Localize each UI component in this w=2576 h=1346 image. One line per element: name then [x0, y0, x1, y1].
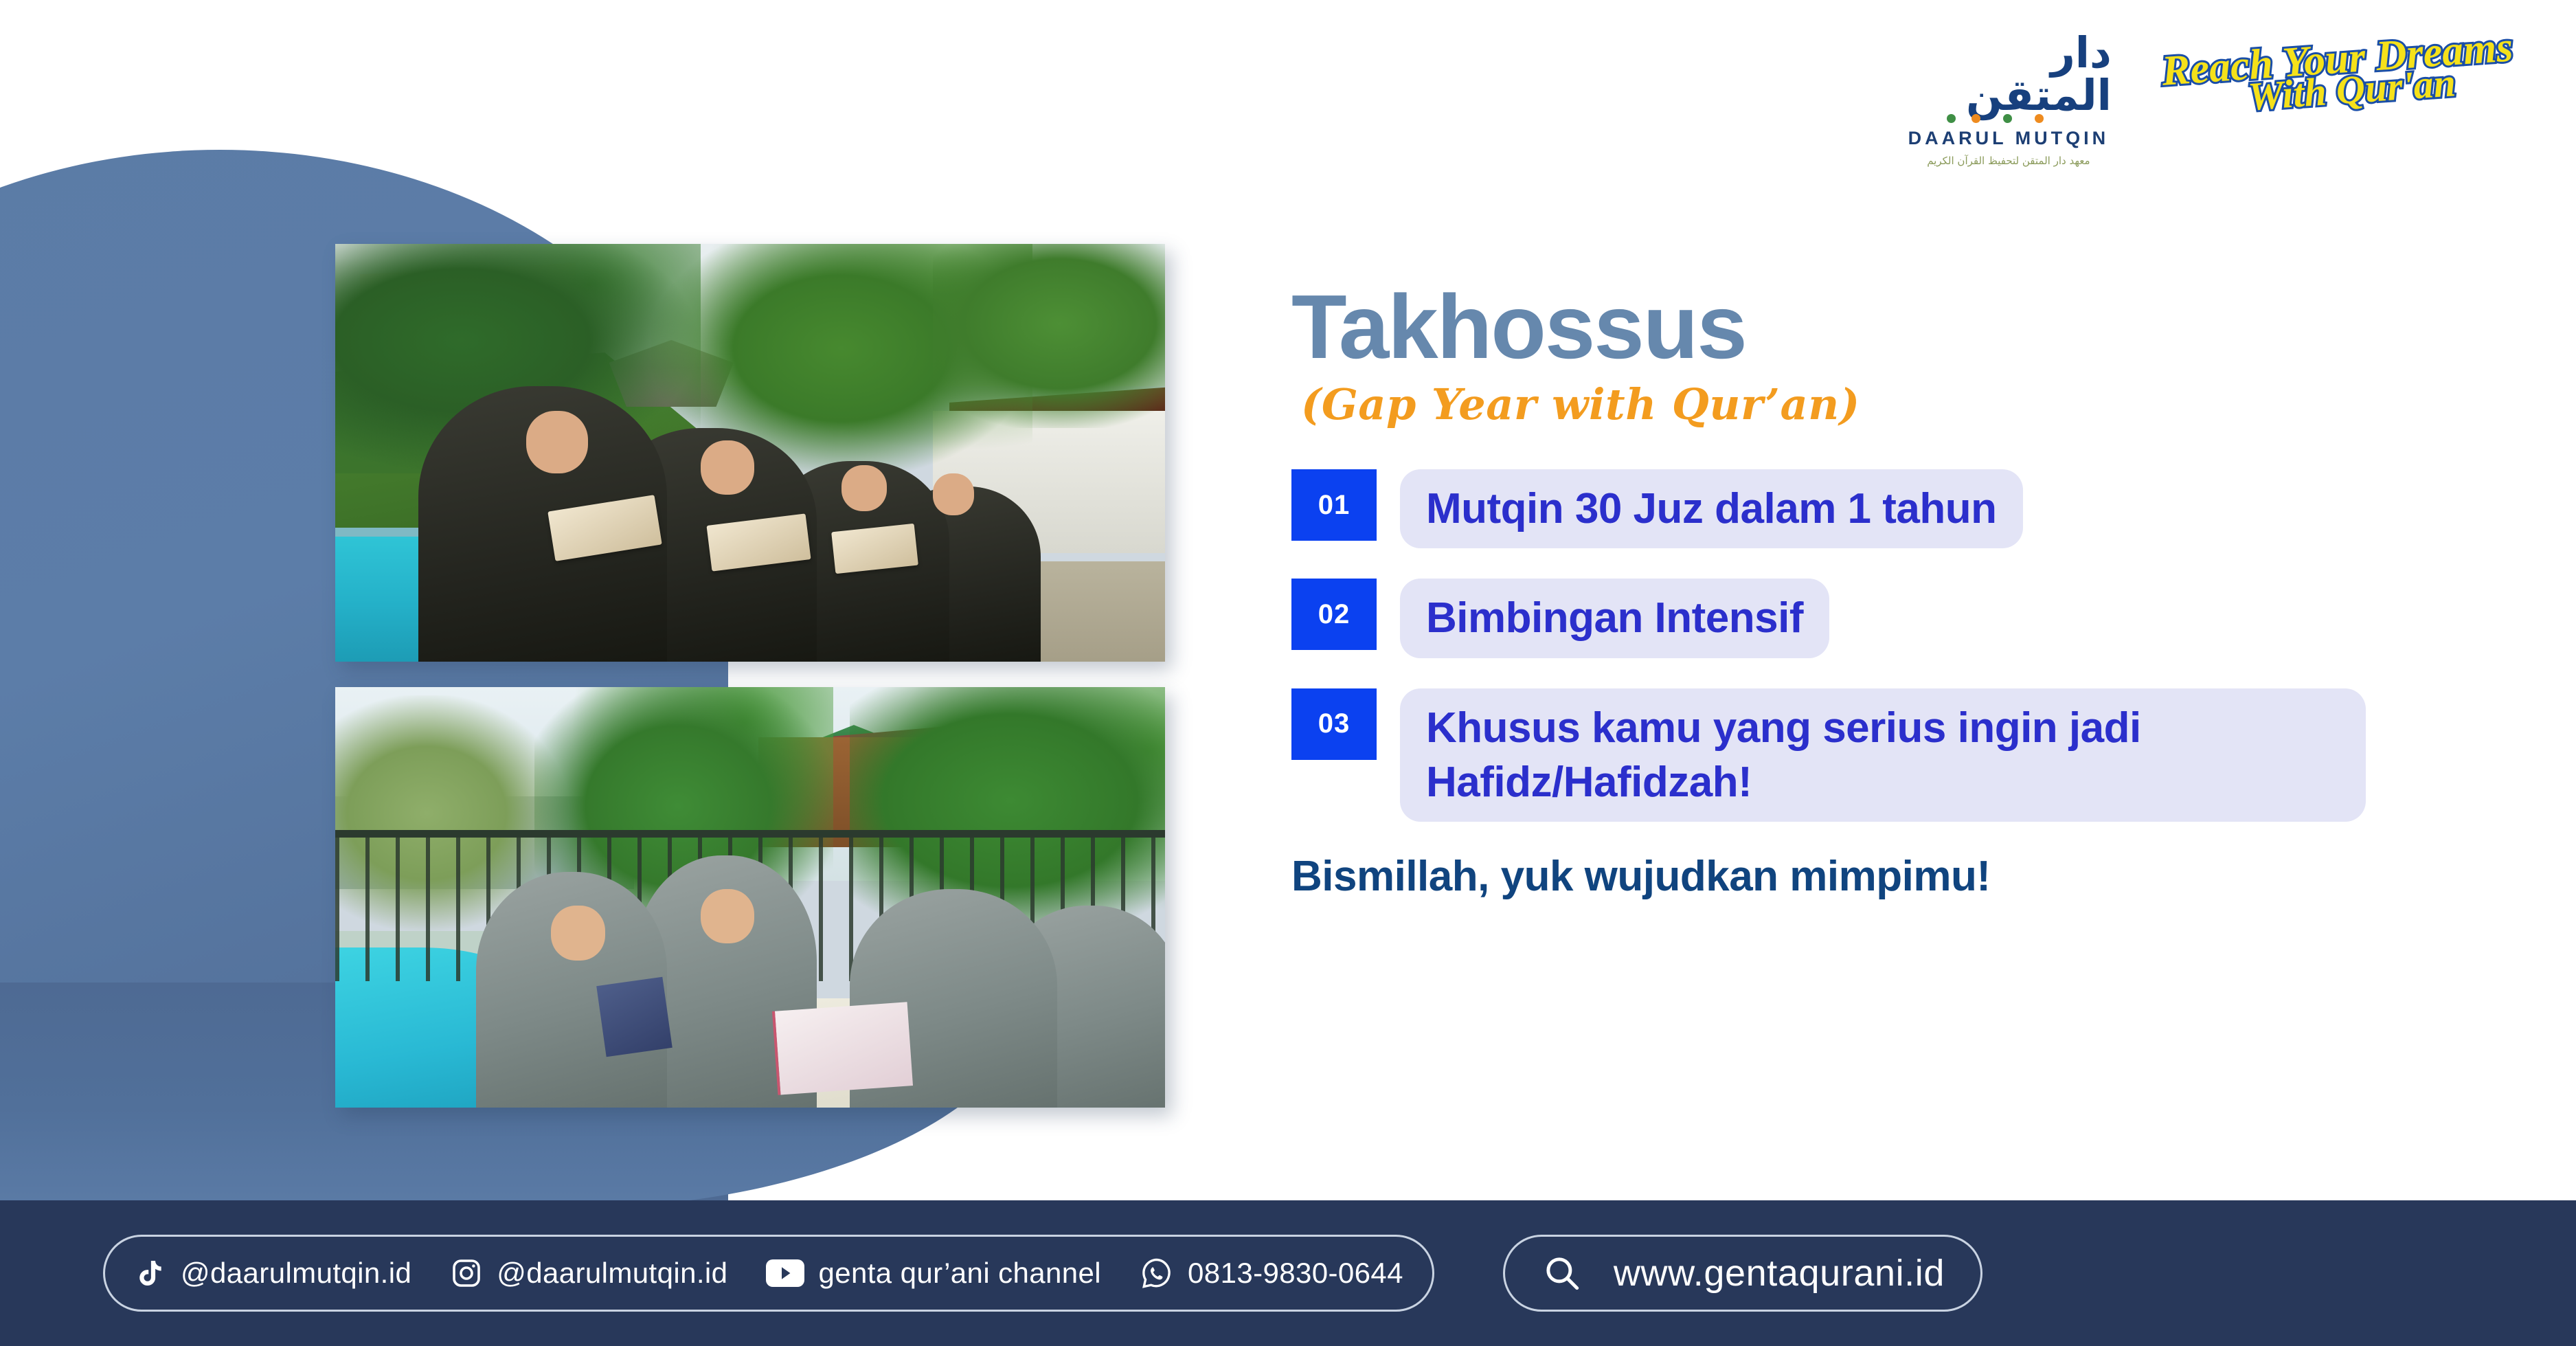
whatsapp-icon: [1140, 1256, 1174, 1290]
youtube-channel: genta qur’ani channel: [818, 1257, 1101, 1290]
brand-header: دار المتقن DAARUL MUTQIN معهد دار المتقن…: [1906, 32, 2514, 167]
website-pill[interactable]: www.gentaqurani.id: [1503, 1235, 1982, 1312]
feature-badge-01: 01: [1291, 469, 1377, 541]
feature-item-02: 02 Bimbingan Intensif: [1291, 579, 2500, 658]
tagline-lockup: Reach Your Dreams With Qur'an: [2160, 29, 2516, 119]
closing-call-to-action: Bismillah, yuk wujudkan mimpimu!: [1291, 852, 2500, 901]
social-instagram[interactable]: @daarulmutqin.id: [450, 1257, 727, 1290]
social-links-pill: @daarulmutqin.id @daarulmutqin.id: [103, 1235, 1434, 1312]
feature-item-01: 01 Mutqin 30 Juz dalam 1 tahun: [1291, 469, 2500, 548]
poster-canvas: دار المتقن DAARUL MUTQIN معهد دار المتقن…: [0, 0, 2576, 1346]
feature-text-01: Mutqin 30 Juz dalam 1 tahun: [1400, 469, 2023, 548]
daarul-mutqin-logo: دار المتقن DAARUL MUTQIN معهد دار المتقن…: [1906, 32, 2112, 167]
page-title: Takhossus: [1291, 282, 2500, 372]
content-column: Takhossus (Gap Year with Qur’an) 01 Mutq…: [1291, 282, 2500, 901]
feature-badge-02: 02: [1291, 579, 1377, 650]
logo-arabic-calligraphy: دار المتقن: [1906, 32, 2112, 117]
photo-students-balcony-study: [335, 687, 1165, 1108]
instagram-handle: @daarulmutqin.id: [497, 1257, 727, 1290]
instagram-icon: [450, 1257, 483, 1290]
youtube-icon: [766, 1258, 804, 1288]
logo-accent-dots: [1940, 114, 2077, 120]
social-tiktok[interactable]: @daarulmutqin.id: [134, 1257, 411, 1290]
photo-students-reading-quran: [335, 244, 1165, 662]
page-subtitle: (Gap Year with Qur’an): [1301, 379, 2500, 429]
feature-badge-03: 03: [1291, 688, 1377, 760]
feature-text-02: Bimbingan Intensif: [1400, 579, 1829, 658]
website-url: www.gentaqurani.id: [1614, 1252, 1945, 1294]
search-icon: [1541, 1252, 1583, 1294]
feature-text-03: Khusus kamu yang serius ingin jadi Hafid…: [1400, 688, 2366, 822]
whatsapp-number: 0813-9830-0644: [1188, 1257, 1403, 1290]
logo-wordmark: DAARUL MUTQIN: [1908, 128, 2109, 149]
footer-bar: @daarulmutqin.id @daarulmutqin.id: [0, 1200, 2576, 1346]
tiktok-icon: [134, 1257, 167, 1290]
feature-item-03: 03 Khusus kamu yang serius ingin jadi Ha…: [1291, 688, 2500, 822]
tiktok-handle: @daarulmutqin.id: [181, 1257, 411, 1290]
logo-arabic-subtitle: معهد دار المتقن لتحفيظ القرآن الكريم: [1927, 155, 2090, 167]
social-whatsapp[interactable]: 0813-9830-0644: [1140, 1256, 1403, 1290]
social-youtube[interactable]: genta qur’ani channel: [766, 1257, 1101, 1290]
